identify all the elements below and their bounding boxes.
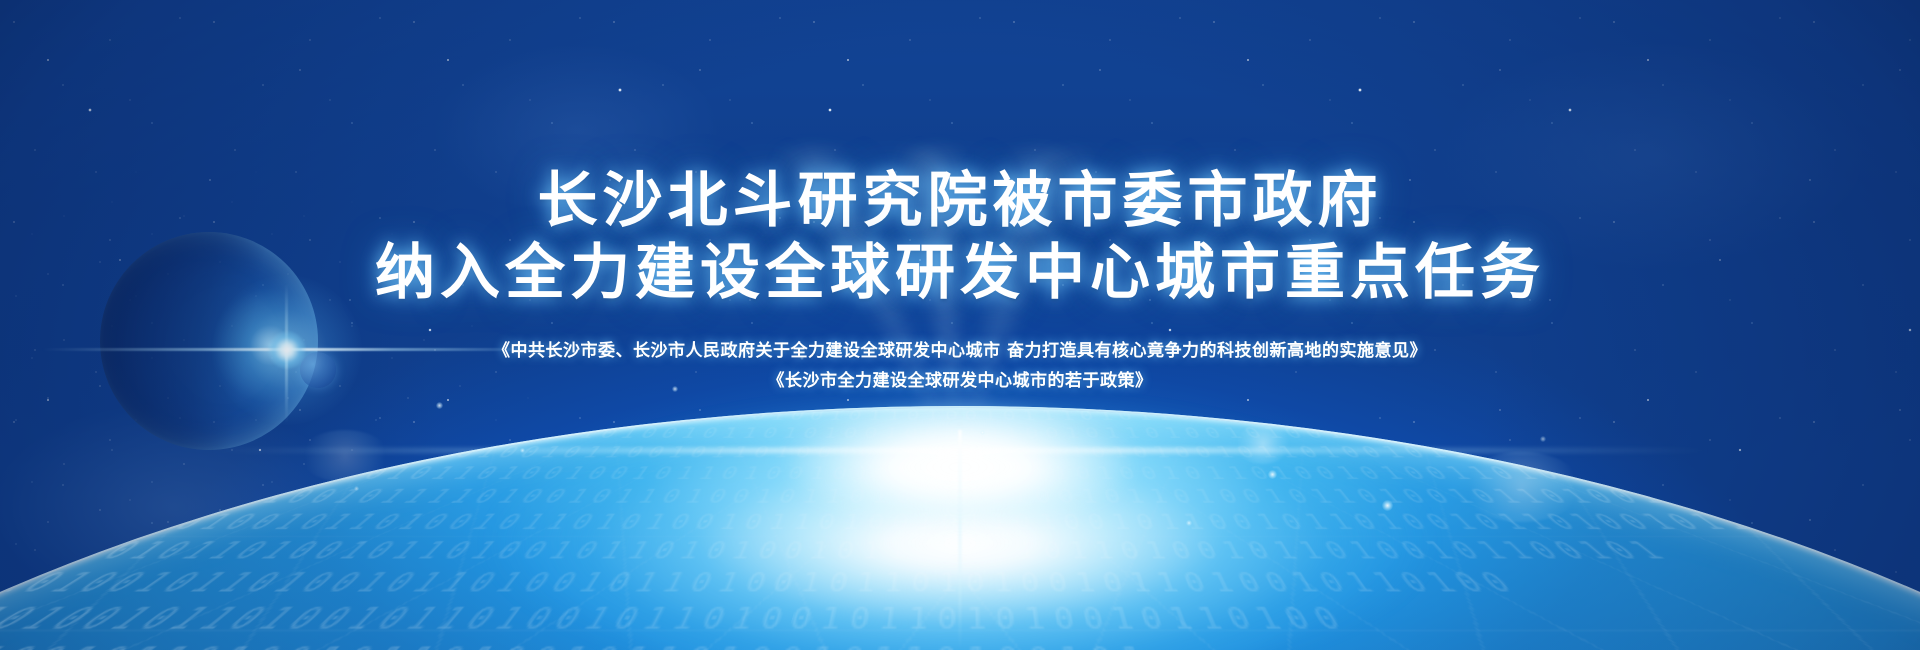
banner-title-line-2: 纳入全力建设全球研发中心城市重点任务 [0, 240, 1920, 306]
banner-subtitle-line-1: 《中共长沙市委、长沙市人民政府关于全力建设全球研发中心城市 奋力打造具有核心竟争… [0, 336, 1920, 366]
banner-text-block: 长沙北斗研究院被市委市政府 纳入全力建设全球研发中心城市重点任务 《中共长沙市委… [0, 168, 1920, 396]
banner-subtitle-line-2: 《长沙市全力建设全球研发中心城市的若于政策》 [0, 366, 1920, 396]
promo-banner: 1010110100101001011010010110100101001101… [0, 0, 1920, 650]
banner-title-line-1: 长沙北斗研究院被市委市政府 [0, 168, 1920, 234]
earth-globe: 1010110100101001011010010110100101001101… [0, 408, 1920, 650]
banner-subtitle-block: 《中共长沙市委、长沙市人民政府关于全力建设全球研发中心城市 奋力打造具有核心竟争… [0, 336, 1920, 396]
